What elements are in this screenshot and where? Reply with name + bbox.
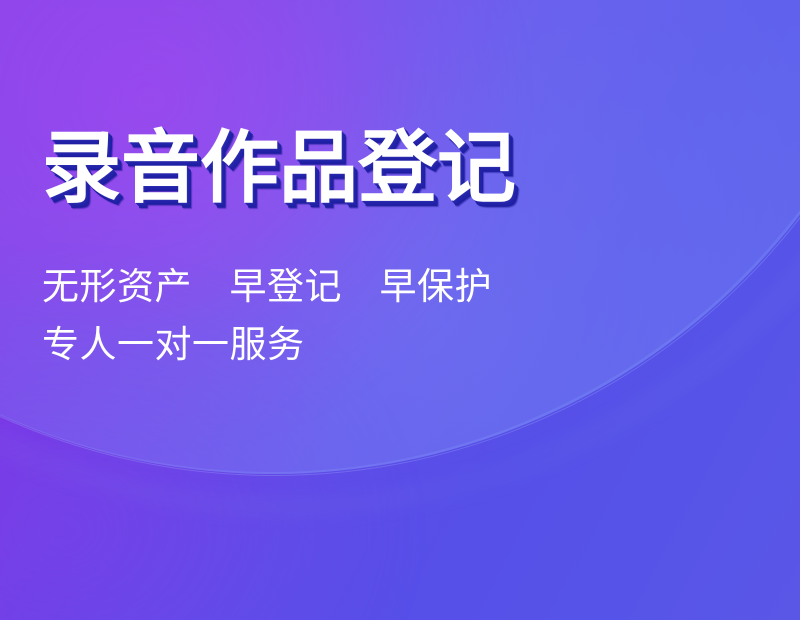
banner-subtitle-group: 无形资产 早登记 早保护 专人一对一服务 bbox=[42, 258, 662, 374]
banner-subtitle-line-1: 无形资产 早登记 早保护 bbox=[42, 258, 662, 316]
banner-headline: 录音作品登记 bbox=[42, 122, 662, 214]
banner-text-block: 录音作品登记 无形资产 早登记 早保护 专人一对一服务 bbox=[42, 122, 662, 374]
promo-banner: 录音作品登记 无形资产 早登记 早保护 专人一对一服务 bbox=[0, 0, 800, 620]
banner-subtitle-line-2: 专人一对一服务 bbox=[42, 316, 662, 374]
